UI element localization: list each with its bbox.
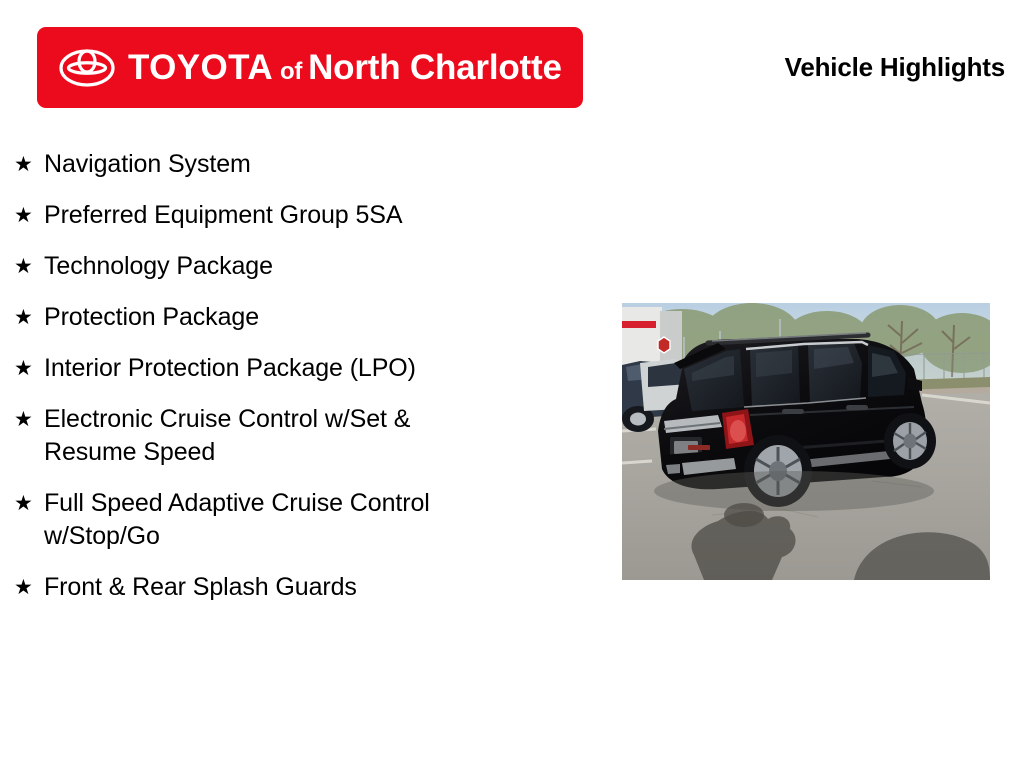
- list-item: ★ Electronic Cruise Control w/Set & Resu…: [14, 403, 574, 469]
- list-item-label: Electronic Cruise Control w/Set & Resume…: [44, 403, 410, 469]
- star-bullet-icon: ★: [14, 250, 44, 283]
- logo-connector-text: of: [280, 60, 302, 84]
- list-item: ★ Front & Rear Splash Guards: [14, 571, 574, 604]
- star-bullet-icon: ★: [14, 148, 44, 181]
- vehicle-photo: [622, 303, 990, 580]
- vehicle-highlights-list: ★ Navigation System ★ Preferred Equipmen…: [14, 148, 574, 622]
- dealer-wordmark: TOYOTA of North Charlotte: [128, 50, 562, 85]
- list-item-label: Navigation System: [44, 148, 251, 181]
- star-bullet-icon: ★: [14, 352, 44, 385]
- slide-canvas: TOYOTA of North Charlotte Vehicle Highli…: [0, 0, 1024, 768]
- toyota-emblem-icon: [59, 49, 115, 87]
- star-bullet-icon: ★: [14, 403, 44, 436]
- list-item: ★ Protection Package: [14, 301, 574, 334]
- star-bullet-icon: ★: [14, 301, 44, 334]
- logo-city-text: North Charlotte: [308, 50, 562, 85]
- list-item-label: Full Speed Adaptive Cruise Control w/Sto…: [44, 487, 430, 553]
- list-item-label: Preferred Equipment Group 5SA: [44, 199, 402, 232]
- star-bullet-icon: ★: [14, 199, 44, 232]
- list-item-label: Front & Rear Splash Guards: [44, 571, 357, 604]
- list-item: ★ Preferred Equipment Group 5SA: [14, 199, 574, 232]
- dealer-logo-banner: TOYOTA of North Charlotte: [37, 27, 583, 108]
- list-item-label: Protection Package: [44, 301, 259, 334]
- list-item: ★ Interior Protection Package (LPO): [14, 352, 574, 385]
- logo-brand-text: TOYOTA: [128, 50, 273, 85]
- star-bullet-icon: ★: [14, 487, 44, 520]
- list-item: ★ Full Speed Adaptive Cruise Control w/S…: [14, 487, 574, 553]
- list-item-label: Technology Package: [44, 250, 273, 283]
- star-bullet-icon: ★: [14, 571, 44, 604]
- list-item: ★ Technology Package: [14, 250, 574, 283]
- list-item-label: Interior Protection Package (LPO): [44, 352, 416, 385]
- list-item: ★ Navigation System: [14, 148, 574, 181]
- page-title: Vehicle Highlights: [785, 52, 1005, 83]
